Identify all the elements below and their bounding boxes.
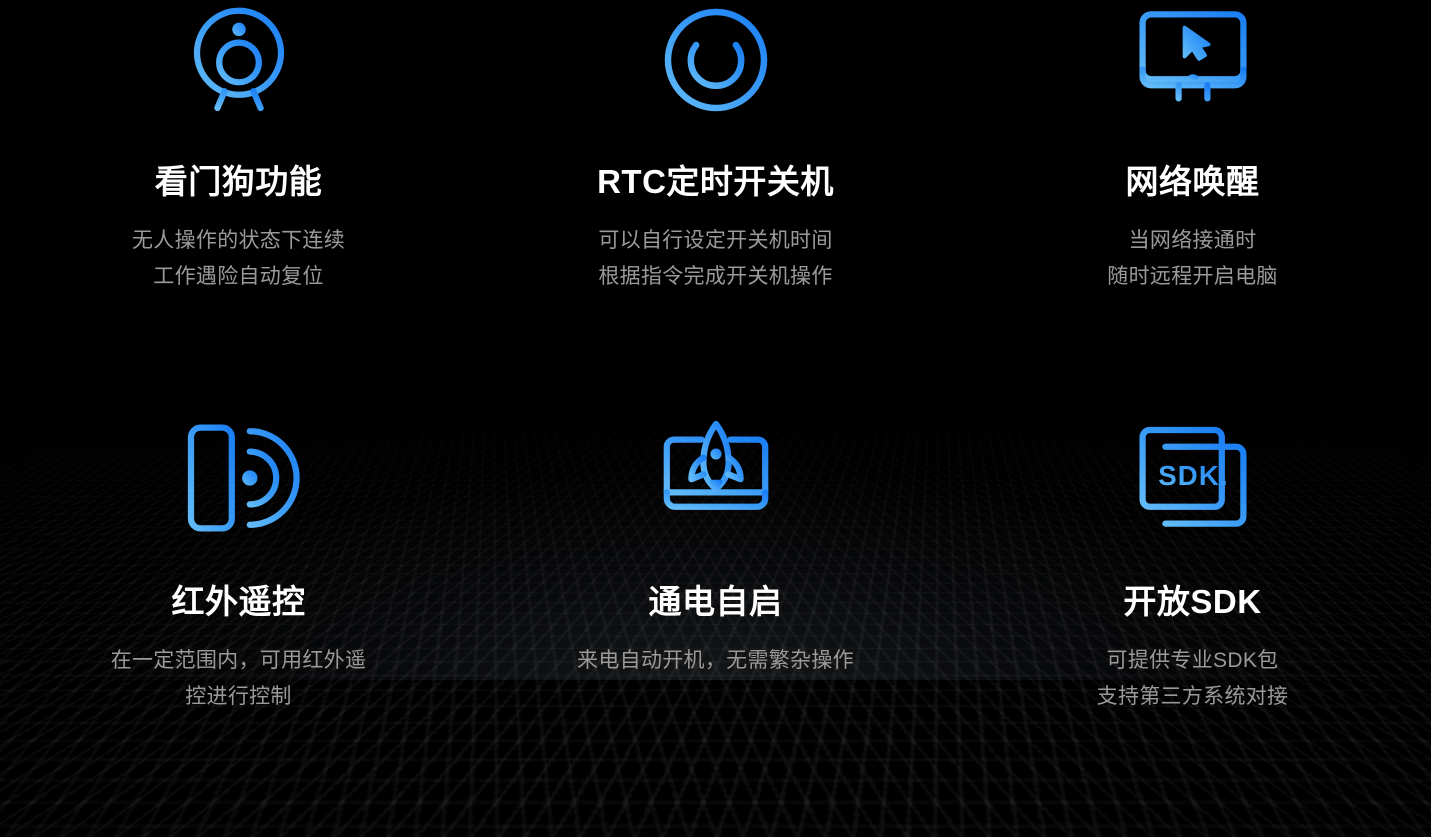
desc-line: 当网络接通时 [1107,223,1277,259]
desc-line: 来电自动开机，无需繁杂操作 [577,643,854,679]
feature-showcase-panel: 看门狗功能 无人操作的状态下连续 工作遇险自动复位 RTC定时开关机 可以自行设… [0,0,1431,837]
desc-line: 可以自行设定开关机时间 [598,223,832,259]
feature-card-rtc-timer[interactable]: RTC定时开关机 可以自行设定开关机时间 根据指令完成开关机操作 [477,0,954,418]
feature-title: 网络唤醒 [1126,164,1260,201]
monitor-cursor-icon [1133,0,1253,120]
feature-description: 在一定范围内，可用红外遥 控进行控制 [111,643,367,715]
feature-title: 通电自启 [649,584,783,621]
desc-line: 在一定范围内，可用红外遥 [111,643,367,679]
ir-remote-icon [179,418,299,538]
sdk-label: SDK. [1158,460,1229,491]
desc-line: 根据指令完成开关机操作 [598,259,832,295]
desc-line: 无人操作的状态下连续 [132,223,345,259]
desc-line: 控进行控制 [111,679,367,715]
monitor-rocket-icon [656,418,776,538]
feature-card-wake-on-lan[interactable]: 网络唤醒 当网络接通时 随时远程开启电脑 [954,0,1431,418]
feature-card-power-on-auto-start[interactable]: 通电自启 来电自动开机，无需繁杂操作 [477,418,954,837]
desc-line: 可提供专业SDK包 [1097,643,1289,679]
feature-description: 当网络接通时 随时远程开启电脑 [1107,223,1277,295]
feature-title: 红外遥控 [172,584,306,621]
desc-line: 工作遇险自动复位 [132,259,345,295]
feature-description: 可以自行设定开关机时间 根据指令完成开关机操作 [598,223,832,295]
desc-line: 随时远程开启电脑 [1107,259,1277,295]
feature-description: 来电自动开机，无需繁杂操作 [577,643,854,679]
feature-grid: 看门狗功能 无人操作的状态下连续 工作遇险自动复位 RTC定时开关机 可以自行设… [0,0,1431,837]
desc-line: 支持第三方系统对接 [1097,679,1289,715]
power-icon [656,0,776,120]
feature-description: 无人操作的状态下连续 工作遇险自动复位 [132,223,345,295]
feature-card-open-sdk[interactable]: SDK. 开放SDK 可提供专业SDK包 支持第三方系统对接 [954,418,1431,837]
feature-description: 可提供专业SDK包 支持第三方系统对接 [1097,643,1289,715]
feature-card-ir-remote[interactable]: 红外遥控 在一定范围内，可用红外遥 控进行控制 [0,418,477,837]
webcam-icon [179,0,299,120]
feature-card-watchdog[interactable]: 看门狗功能 无人操作的状态下连续 工作遇险自动复位 [0,0,477,418]
feature-title: 开放SDK [1123,584,1261,621]
feature-title: RTC定时开关机 [597,164,834,201]
feature-title: 看门狗功能 [155,164,323,201]
sdk-windows-icon: SDK. [1133,418,1253,538]
